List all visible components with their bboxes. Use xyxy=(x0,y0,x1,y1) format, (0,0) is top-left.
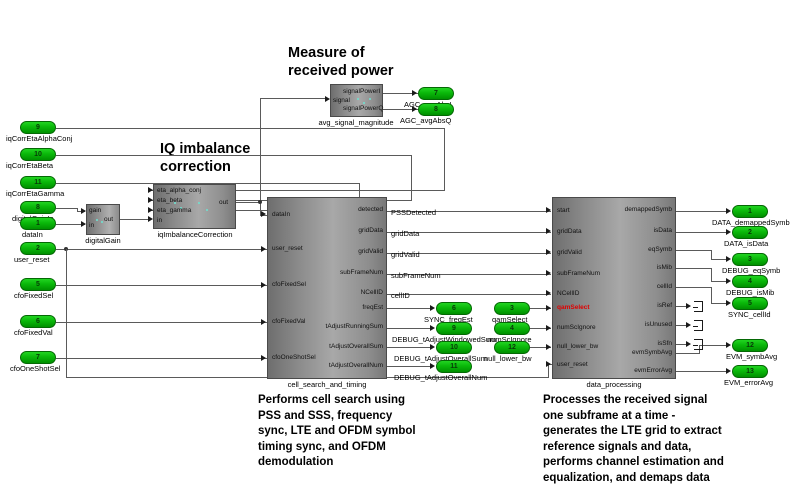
wire-digitalgainin xyxy=(56,208,78,209)
arrowhead-terminator-isref xyxy=(686,303,691,309)
input-port-2[interactable]: 2 xyxy=(20,242,56,255)
pin-avgsignal-signalpoweri: signalPowerI xyxy=(343,88,380,96)
arrowhead-digitalgain-gain xyxy=(81,208,86,214)
wire-evmsymbavg-h2 xyxy=(699,345,726,346)
arrowhead-evm-symbavg xyxy=(726,342,731,348)
arrowhead-avgsignal-signal xyxy=(325,96,330,102)
input-port-4-numscignore[interactable]: 4 xyxy=(494,322,530,335)
block-dataprocessing-name: data_processing xyxy=(552,380,676,389)
output-port-11[interactable]: 11 xyxy=(436,360,472,373)
arrowhead-iqimbalance-3 xyxy=(148,207,153,213)
arrowhead-dp-start xyxy=(546,207,551,213)
block-iqimbalancecorrection-name: iqImbalanceCorrection xyxy=(152,230,238,239)
simulink-model-canvas[interactable]: Measure of received power IQ imbalance c… xyxy=(0,0,800,501)
data-processing-description: Processes the received signal one subfra… xyxy=(543,393,798,486)
signal-label-pssdetected: PSSDetected xyxy=(391,208,436,217)
pin-digitalgain-in: in xyxy=(89,222,94,230)
arrowhead-cellsearch-userreset xyxy=(261,246,266,252)
signal-label-griddata: gridData xyxy=(391,229,419,238)
arrowhead-agc-avgabsq xyxy=(412,106,417,112)
output-port-8[interactable]: 8 xyxy=(418,103,454,116)
wire-iqcorretabeta xyxy=(56,155,412,156)
pin-cellsearch-subframenum: subFrameNum xyxy=(297,269,383,277)
output-port-6[interactable]: 6 xyxy=(436,302,472,315)
wire-userreset xyxy=(56,249,261,250)
arrowhead-dp-qamselect xyxy=(546,305,551,311)
output-port-2-label: DATA_isData xyxy=(724,239,768,248)
arrowhead-dp-griddata xyxy=(546,228,551,234)
arrowhead-digitalgain-in xyxy=(81,221,86,227)
output-port-7[interactable]: 7 xyxy=(418,87,454,100)
pin-avgsignal-signalpowerq: signalPowerQ xyxy=(343,105,383,113)
output-port-5-label: SYNC_cellId xyxy=(728,310,771,319)
wire-ismib xyxy=(676,268,712,269)
input-port-1-label: dataIn xyxy=(22,230,43,239)
arrowhead-debug-ismib xyxy=(726,278,731,284)
wire-to-avgsignal-v xyxy=(260,98,261,203)
wire-eqsymb-v xyxy=(711,250,712,259)
pin-cellsearch-ncellid: NCellID xyxy=(297,289,383,297)
signal-label-gridvalid: gridValid xyxy=(391,250,420,259)
block-digitalgain-name: digitalGain xyxy=(80,236,126,245)
pin-avgsignal-signal: signal xyxy=(333,97,350,105)
input-port-2-label: user_reset xyxy=(14,255,49,264)
input-port-7[interactable]: 7 xyxy=(20,351,56,364)
arrowhead-debug-tadjustoverallnum xyxy=(430,363,435,369)
pin-cellsearch-tadjustoverallnum: tAdjustOverallNum xyxy=(297,362,383,370)
pin-cellsearch-tadjustoverallsum: tAdjustOverallSum xyxy=(297,343,383,351)
arrowhead-cellsearch-cfooneshotsel xyxy=(261,355,266,361)
output-port-12[interactable]: 12 xyxy=(732,339,768,352)
wire-tadjustrunningsum xyxy=(387,328,430,329)
pin-dataprocessing-cellid: cellId xyxy=(586,283,672,291)
input-port-5-label: cfoFixedSel xyxy=(14,291,53,300)
arrowhead-dp-gridvalid xyxy=(546,249,551,255)
pin-cellsearch-cfofixedsel: cfoFixedSel xyxy=(272,281,306,289)
wire-evmsymbavg xyxy=(676,353,700,354)
output-port-9[interactable]: 9 xyxy=(436,322,472,335)
pin-cellsearch-freqest: freqEst xyxy=(297,304,383,312)
pin-cellsearch-tadjustrunningsum: tAdjustRunningSum xyxy=(297,323,383,331)
arrowhead-debug-tadjustwindowedsum xyxy=(430,325,435,331)
arrowhead-sync-freqest xyxy=(430,305,435,311)
arrowhead-cellsearch-cfofixedval xyxy=(261,319,266,325)
wire-eqsymb-h2 xyxy=(711,259,726,260)
arrowhead-dp-numscignore xyxy=(546,325,551,331)
output-port-4-label: DEBUG_isMib xyxy=(726,288,774,297)
pin-cellsearch-datain: dataIn xyxy=(272,211,290,219)
output-port-5[interactable]: 5 xyxy=(732,297,768,310)
input-port-8[interactable]: 8 xyxy=(20,201,56,214)
wire-iqcorretabeta-v xyxy=(411,155,412,200)
pin-dataprocessing-isunused: isUnused xyxy=(586,321,672,329)
terminator-issfn[interactable] xyxy=(694,339,703,350)
arrowhead-iqimbalance-4 xyxy=(148,216,153,222)
pin-cellsearch-gridvalid: gridValid xyxy=(297,248,383,256)
output-port-8-label: AGC_avgAbsQ xyxy=(400,116,451,125)
pin-dataprocessing-gridvalid: gridValid xyxy=(557,249,582,257)
wire-cfofixedsel xyxy=(56,285,261,286)
input-port-10-label: iqCorrEtaBeta xyxy=(6,161,53,170)
wire-cfofixedval xyxy=(56,322,261,323)
arrowhead-evm-erroravg xyxy=(726,368,731,374)
pin-dataprocessing-issfn: isSfn xyxy=(586,340,672,348)
junction-iqout xyxy=(258,200,262,204)
arrowhead-dp-userreset xyxy=(546,361,551,367)
pin-dataprocessing-ismib: isMib xyxy=(586,264,672,272)
wire-eqsymb xyxy=(676,250,712,251)
input-port-9[interactable]: 9 xyxy=(20,121,56,134)
block-avgsignalmagnitude-name: avg_signal_magnitude xyxy=(306,118,406,127)
pin-dataprocessing-griddata: gridData xyxy=(557,228,582,236)
pin-dataprocessing-start: start xyxy=(557,207,570,215)
pin-dataprocessing-eqsymb: eqSymb xyxy=(586,246,672,254)
arrowhead-debug-tadjustoverallsum xyxy=(430,344,435,350)
pin-dataprocessing-evmerroravg: evmErrorAvg xyxy=(586,367,672,375)
arrowhead-iqimbalance-1 xyxy=(148,187,153,193)
wire-cellid-h2 xyxy=(711,303,726,304)
input-port-9-label: iqCorrEtaAlphaConj xyxy=(6,134,72,143)
signal-label-cellid: cellID xyxy=(391,291,410,300)
wire-tadjustoverallnum xyxy=(387,366,430,367)
input-port-6-label: cfoFixedVal xyxy=(14,328,53,337)
pin-dataprocessing-evmsymbavg: evmSymbAvg xyxy=(586,349,672,357)
input-port-3-qamselect[interactable]: 3 xyxy=(494,302,530,315)
arrowhead-data-isdata xyxy=(726,229,731,235)
wire-tadjustoverallsum xyxy=(387,347,430,348)
output-port-4[interactable]: 4 xyxy=(732,275,768,288)
pin-cellsearch-detected: detected xyxy=(297,206,383,214)
pin-cellsearch-griddata: gridData xyxy=(297,227,383,235)
pin-iqimbalance-eta-alpha-conj: eta_alpha_conj xyxy=(157,187,201,195)
signal-label-subframenum: subFrameNum xyxy=(391,271,441,280)
wire-ismib-v xyxy=(711,268,712,281)
wire-digitalgain-out xyxy=(120,219,148,220)
output-port-2[interactable]: 2 xyxy=(732,226,768,239)
wire-isdata xyxy=(676,232,726,233)
pin-iqimbalance-in: in xyxy=(157,217,162,225)
wire-cellid xyxy=(676,287,712,288)
pin-digitalgain-out: out xyxy=(104,216,113,224)
pin-dataprocessing-qamselect: qamSelect xyxy=(557,304,590,312)
input-port-5[interactable]: 5 xyxy=(20,278,56,291)
input-port-11[interactable]: 11 xyxy=(20,176,56,189)
wire-ismib-h2 xyxy=(711,281,726,282)
wire-cellid-v xyxy=(711,287,712,303)
output-port-13-label: EVM_errorAvg xyxy=(724,378,773,387)
arrowhead-terminator-isunused xyxy=(686,322,691,328)
arrowhead-dp-ncellid xyxy=(546,290,551,296)
pin-iqimbalance-eta-gamma: eta_gamma xyxy=(157,207,191,215)
arrowhead-debug-eqsymb xyxy=(726,256,731,262)
output-port-1[interactable]: 1 xyxy=(732,205,768,218)
pin-dataprocessing-isdata: isData xyxy=(586,227,672,235)
arrowhead-cellsearch-cfofixedsel xyxy=(261,282,266,288)
pin-iqimbalance-out: out xyxy=(219,199,228,207)
arrowhead-agc-avgabsi xyxy=(412,90,417,96)
input-port-10[interactable]: 10 xyxy=(20,148,56,161)
terminator-isref[interactable] xyxy=(694,301,703,312)
arrowhead-iqimbalance-2 xyxy=(148,197,153,203)
arrowhead-terminator-issfn xyxy=(686,341,691,347)
wire-evmerroravg xyxy=(676,371,726,372)
cell-search-description: Performs cell search using PSS and SSS, … xyxy=(258,393,488,471)
input-port-6[interactable]: 6 xyxy=(20,315,56,328)
output-port-10[interactable]: 10 xyxy=(436,341,472,354)
output-port-13[interactable]: 13 xyxy=(732,365,768,378)
input-port-11-label: iqCorrEtaGamma xyxy=(6,189,64,198)
wire-cfooneshotsel xyxy=(56,358,261,359)
arrowhead-dp-subframenum xyxy=(546,270,551,276)
measure-power-note: Measure of received power xyxy=(288,44,394,80)
output-port-3-label: DEBUG_eqSymb xyxy=(722,266,780,275)
wire-demappedsymb xyxy=(676,211,726,212)
output-port-11-label: DEBUG_tAdjustOverallNum xyxy=(394,373,487,382)
arrowhead-data-demappedsymb xyxy=(726,208,731,214)
input-port-12-nulllowerbw-label: null_lower_bw xyxy=(484,354,532,363)
output-port-3[interactable]: 3 xyxy=(732,253,768,266)
block-cellsearchandtiming-name: cell_search_and_timing xyxy=(262,380,392,389)
input-port-1[interactable]: 1 xyxy=(20,217,56,230)
pin-dataprocessing-isref: isRef xyxy=(586,302,672,310)
terminator-isunused[interactable] xyxy=(694,320,703,331)
output-port-12-label: EVM_symbAvg xyxy=(726,352,777,361)
wire-ncellid-bus xyxy=(387,294,551,295)
input-port-12-nulllowerbw[interactable]: 12 xyxy=(494,341,530,354)
pin-digitalgain-gain: gain xyxy=(89,207,101,215)
pin-iqimbalance-eta-beta: eta_beta xyxy=(157,197,182,205)
arrowhead-cellsearch-datain xyxy=(261,211,266,217)
pin-dataprocessing-userreset: user_reset xyxy=(557,361,588,369)
wire-iqcorretaalphaconj xyxy=(56,128,445,129)
arrowhead-sync-cellid xyxy=(726,300,731,306)
pin-cellsearch-cfooneshotsel: cfoOneShotSel xyxy=(272,354,316,362)
pin-dataprocessing-ncellid: NCellID xyxy=(557,290,579,298)
arrowhead-dp-nulllowerbw xyxy=(546,344,551,350)
iq-imbalance-note: IQ imbalance correction xyxy=(160,140,250,176)
wire-freqest xyxy=(387,308,430,309)
pin-dataprocessing-demappedsymb: demappedSymb xyxy=(586,206,672,214)
wire-to-avgsignal-h xyxy=(260,98,328,99)
wire-iqcorretaalphaconj-v xyxy=(444,128,445,190)
input-port-7-label: cfoOneShotSel xyxy=(10,364,60,373)
